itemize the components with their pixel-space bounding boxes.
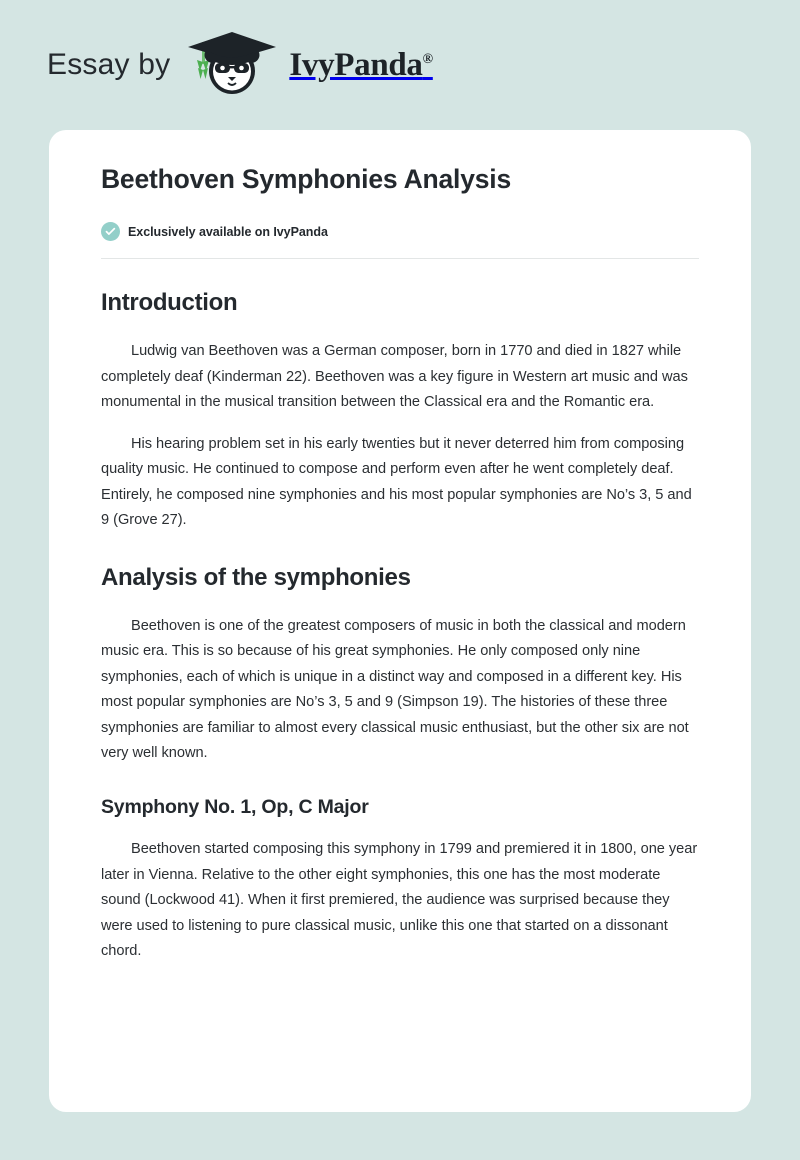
section-heading-introduction: Introduction — [101, 288, 699, 318]
ivypanda-logo-link[interactable]: IvyPanda® — [184, 30, 432, 101]
exclusive-availability-badge: Exclusively available on IvyPanda — [101, 222, 699, 241]
section-heading-analysis-of-the-symphonies: Analysis of the symphonies — [101, 563, 699, 593]
site-header: Essay by — [0, 0, 800, 130]
check-circle-icon — [101, 222, 120, 241]
panda-graduate-logo-icon — [184, 30, 280, 101]
brand-wordmark: IvyPanda® — [289, 49, 432, 82]
title-divider — [101, 258, 699, 259]
paragraph: Beethoven started composing this symphon… — [101, 837, 699, 965]
essay-by-label: Essay by — [47, 50, 170, 80]
brand-name-text: IvyPanda — [289, 47, 422, 83]
paragraph: Ludwig van Beethoven was a German compos… — [101, 339, 699, 416]
section-heading-symphony-no-1: Symphony No. 1, Op, C Major — [101, 795, 699, 819]
registered-trademark-mark: ® — [423, 52, 433, 67]
paragraph: His hearing problem set in his early twe… — [101, 432, 699, 534]
paragraph: Beethoven is one of the greatest compose… — [101, 614, 699, 767]
status-badge-label: Exclusively available on IvyPanda — [128, 225, 328, 239]
page-title: Beethoven Symphonies Analysis — [101, 163, 699, 196]
essay-paper-card: Beethoven Symphonies Analysis Exclusivel… — [49, 130, 751, 1112]
